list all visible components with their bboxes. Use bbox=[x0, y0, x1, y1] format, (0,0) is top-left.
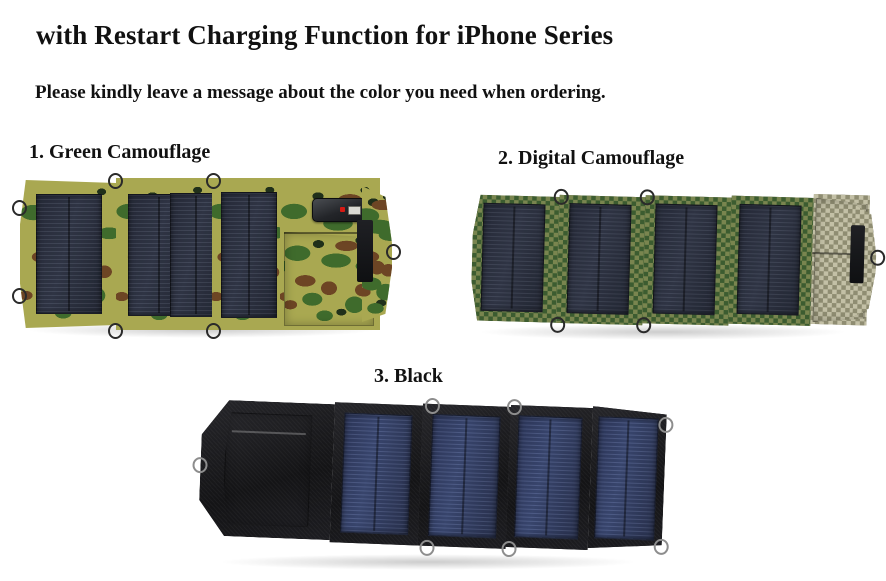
variant-label-black: 3. Black bbox=[374, 365, 443, 388]
d-ring-bottom-mid bbox=[206, 323, 221, 339]
solar-cell-3 bbox=[653, 204, 718, 316]
d-ring-bottom-mid bbox=[636, 317, 651, 333]
d-ring-bottom-mid bbox=[501, 541, 517, 558]
solar-cell-4 bbox=[594, 416, 659, 540]
d-ring-top-left bbox=[108, 173, 123, 189]
d-ring-right-lower bbox=[653, 539, 669, 556]
d-ring-edge-upper bbox=[12, 200, 27, 216]
variant-label-digital: 2. Digital Camouflage bbox=[498, 147, 684, 170]
product-image-black bbox=[198, 398, 666, 568]
product-image-digital-camouflage bbox=[468, 186, 874, 336]
panel-assembly bbox=[195, 389, 669, 577]
d-ring-bottom-left bbox=[419, 540, 435, 557]
solar-cell-1 bbox=[36, 194, 102, 314]
d-ring-top-mid bbox=[206, 173, 221, 189]
variant-label-green: 1. Green Camouflage bbox=[29, 141, 210, 164]
solar-cell-4 bbox=[737, 204, 802, 316]
solar-cell-3 bbox=[514, 415, 583, 539]
d-ring-right-edge bbox=[870, 250, 885, 266]
charge-led-indicator bbox=[340, 207, 345, 212]
page-subtitle: Please kindly leave a message about the … bbox=[35, 82, 606, 104]
velcro-strap bbox=[357, 220, 373, 282]
solar-cell-1 bbox=[481, 203, 546, 313]
page-title: with Restart Charging Function for iPhon… bbox=[36, 20, 613, 51]
d-ring-bottom-left bbox=[550, 317, 565, 333]
d-ring-right-edge bbox=[386, 244, 401, 260]
pocket-flap bbox=[222, 412, 312, 527]
usb-controller-box bbox=[312, 198, 366, 222]
solar-cell-1 bbox=[340, 413, 413, 536]
panel-assembly bbox=[466, 180, 876, 341]
velcro-strap bbox=[849, 225, 865, 283]
solar-cell-2 bbox=[428, 414, 501, 539]
usb-port bbox=[348, 206, 361, 215]
solar-cell-2 bbox=[567, 203, 632, 315]
d-ring-edge-lower bbox=[12, 288, 27, 304]
product-image-green-camouflage bbox=[12, 176, 398, 334]
d-ring-bottom-left bbox=[108, 323, 123, 339]
panel-assembly bbox=[12, 176, 398, 334]
d-ring-right-upper bbox=[658, 417, 674, 434]
solar-cell-4 bbox=[221, 192, 277, 318]
